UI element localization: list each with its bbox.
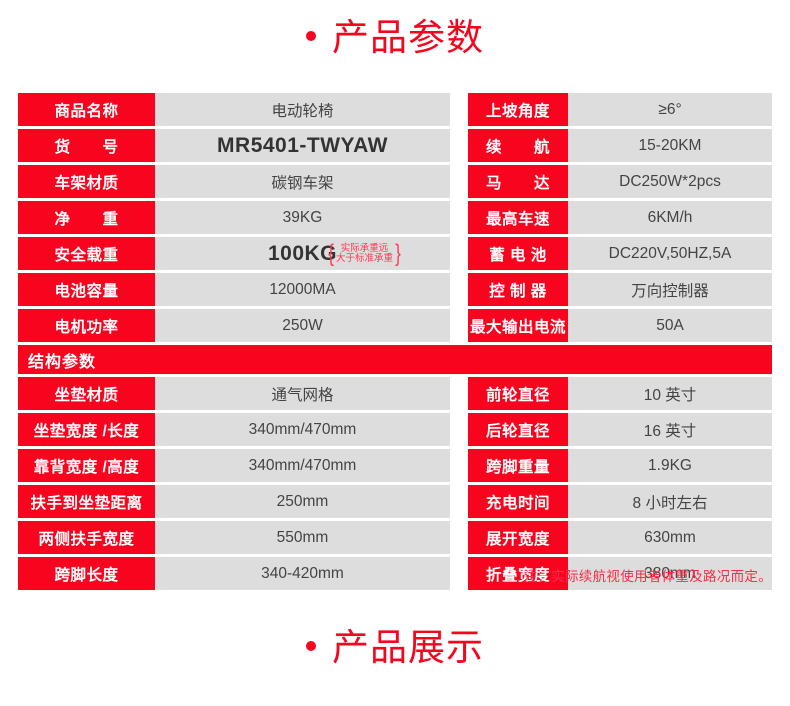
spec-value-cell: 碳钢车架: [155, 165, 450, 198]
spec-value-text: DC220V,50HZ,5A: [609, 245, 732, 263]
spec-label-cell: 跨脚重量: [468, 449, 568, 482]
spec-label-cell: 上坡角度: [468, 93, 568, 126]
table-row: 两侧扶手宽度550mm展开宽度630mm: [18, 521, 772, 554]
table-row: 净 重39KG最高车速6KM/h: [18, 201, 772, 234]
spec-value-cell: 630mm: [568, 521, 772, 554]
spec-label-cell: 靠背宽度 /高度: [18, 449, 155, 482]
column-gap: [450, 129, 468, 162]
spec-label-cell: 最大输出电流: [468, 309, 568, 342]
table-row: 安全载重100KG{实际承重远大于标准承重}蓄 电 池DC220V,50HZ,5…: [18, 237, 772, 270]
table-row: 电机功率250W最大输出电流50A: [18, 309, 772, 342]
spec-table: 商品名称电动轮椅上坡角度≥6°货 号MR5401-TWYAW续 航15-20KM…: [18, 93, 772, 593]
spec-value-cell: 340mm/470mm: [155, 413, 450, 446]
spec-value-cell: 15-20KM: [568, 129, 772, 162]
spec-value-cell: 39KG: [155, 201, 450, 234]
column-gap: [450, 377, 468, 410]
table-row: 靠背宽度 /高度340mm/470mm跨脚重量1.9KG: [18, 449, 772, 482]
spec-value-cell: 10 英寸: [568, 377, 772, 410]
annotation-lines: 实际承重远大于标准承重: [336, 244, 393, 264]
spec-value-cell: 1.9KG: [568, 449, 772, 482]
table-row: 商品名称电动轮椅上坡角度≥6°: [18, 93, 772, 126]
column-gap: [450, 273, 468, 306]
spec-value-text: 8 小时左右: [633, 491, 708, 513]
spec-value-cell: 万向控制器: [568, 273, 772, 306]
spec-label-cell: 充电时间: [468, 485, 568, 518]
spec-value-text: 电动轮椅: [271, 99, 333, 121]
bullet-icon: [306, 31, 316, 41]
column-gap: [450, 449, 468, 482]
table-row: 坐垫宽度 /长度340mm/470mm后轮直径16 英寸: [18, 413, 772, 446]
brace-left: {: [328, 242, 334, 266]
spec-value-text: DC250W*2pcs: [619, 173, 721, 191]
spec-value-text: 630mm: [644, 529, 696, 547]
spec-value-cell: DC220V,50HZ,5A: [568, 237, 772, 270]
spec-value-text: 340-420mm: [261, 565, 344, 583]
brace-right: }: [395, 242, 401, 266]
spec-value-cell: 通气网格: [155, 377, 450, 410]
spec-label-cell: 续 航: [468, 129, 568, 162]
load-capacity-annotation: {实际承重远大于标准承重}: [327, 242, 402, 266]
column-gap: [450, 485, 468, 518]
spec-value-text: 250W: [282, 317, 323, 335]
column-gap: [450, 201, 468, 234]
spec-value-text: 6KM/h: [648, 209, 693, 227]
spec-value-text: ≥6°: [658, 101, 681, 119]
spec-value-text: 15-20KM: [639, 137, 702, 155]
spec-label-cell: 马 达: [468, 165, 568, 198]
spec-value-cell: 8 小时左右: [568, 485, 772, 518]
section-title-text: 产品展示: [332, 627, 484, 668]
spec-value-cell: 12000MA: [155, 273, 450, 306]
table-row: 货 号MR5401-TWYAW续 航15-20KM: [18, 129, 772, 162]
spec-label-cell: 电机功率: [18, 309, 155, 342]
spec-value-text: 16 英寸: [644, 419, 697, 441]
annotation-line-2: 大于标准承重: [336, 254, 393, 264]
column-gap: [450, 413, 468, 446]
spec-value-cell: ≥6°: [568, 93, 772, 126]
bullet-icon: [306, 641, 316, 651]
spec-value-cell: 550mm: [155, 521, 450, 554]
spec-value-text: 万向控制器: [631, 279, 709, 301]
spec-value-text: 39KG: [283, 209, 323, 227]
column-gap: [450, 237, 468, 270]
column-gap: [450, 521, 468, 554]
spec-label-cell: 控 制 器: [468, 273, 568, 306]
spec-value-text: 通气网格: [271, 383, 333, 405]
spec-label-cell: 蓄 电 池: [468, 237, 568, 270]
spec-value-cell: 50A: [568, 309, 772, 342]
spec-value-text: 碳钢车架: [271, 171, 333, 193]
spec-label-cell: 商品名称: [18, 93, 155, 126]
value-with-annotation: 100KG{实际承重远大于标准承重}: [155, 242, 450, 266]
spec-label-cell: 货 号: [18, 129, 155, 162]
spec-value-text: 340mm/470mm: [249, 457, 357, 475]
spec-label-cell: 跨脚长度: [18, 557, 155, 590]
spec-value-cell: 250mm: [155, 485, 450, 518]
page-title-product-parameters: 产品参数: [0, 19, 790, 56]
spec-value-cell: 16 英寸: [568, 413, 772, 446]
column-gap: [450, 309, 468, 342]
spec-value-text: 550mm: [277, 529, 329, 547]
spec-value-cell: 100KG{实际承重远大于标准承重}: [155, 237, 450, 270]
spec-label-cell: 展开宽度: [468, 521, 568, 554]
table-row: 坐垫材质通气网格前轮直径10 英寸: [18, 377, 772, 410]
spec-label-cell: 安全载重: [18, 237, 155, 270]
spec-value-cell: 340-420mm: [155, 557, 450, 590]
table-row: 扶手到坐垫距离250mm充电时间8 小时左右: [18, 485, 772, 518]
spec-label-cell: 前轮直径: [468, 377, 568, 410]
spec-label-cell: 扶手到坐垫距离: [18, 485, 155, 518]
spec-value-text: 12000MA: [269, 281, 335, 299]
spec-value-text: 50A: [656, 317, 684, 335]
page-title-text: 产品参数: [332, 17, 484, 58]
spec-value-text: 340mm/470mm: [249, 421, 357, 439]
spec-value-cell: 电动轮椅: [155, 93, 450, 126]
spec-value-text: 10 英寸: [644, 383, 697, 405]
column-gap: [450, 165, 468, 198]
spec-value-text: MR5401-TWYAW: [217, 134, 388, 158]
spec-value-text: 250mm: [277, 493, 329, 511]
spec-value-cell: MR5401-TWYAW: [155, 129, 450, 162]
section-title-product-display: 产品展示: [0, 629, 790, 666]
spec-label-cell: 坐垫材质: [18, 377, 155, 410]
spec-label-cell: 坐垫宽度 /长度: [18, 413, 155, 446]
spec-label-cell: 两侧扶手宽度: [18, 521, 155, 554]
table-row: 车架材质碳钢车架马 达DC250W*2pcs: [18, 165, 772, 198]
product-spec-page: 产品参数 商品名称电动轮椅上坡角度≥6°货 号MR5401-TWYAW续 航15…: [0, 0, 790, 706]
spec-value-cell: 340mm/470mm: [155, 449, 450, 482]
spec-label-cell: 车架材质: [18, 165, 155, 198]
table-row: 电池容量12000MA控 制 器万向控制器: [18, 273, 772, 306]
section-band-structure-parameters: 结构参数: [18, 345, 772, 374]
spec-value-cell: 250W: [155, 309, 450, 342]
spec-value-text: 1.9KG: [648, 457, 692, 475]
table-footnote: 注：实际续航视使用者体重及路况而定。: [524, 565, 772, 585]
spec-label-cell: 电池容量: [18, 273, 155, 306]
column-gap: [450, 93, 468, 126]
spec-label-cell: 后轮直径: [468, 413, 568, 446]
spec-value-cell: 6KM/h: [568, 201, 772, 234]
column-gap: [450, 557, 468, 590]
spec-label-cell: 净 重: [18, 201, 155, 234]
spec-label-cell: 最高车速: [468, 201, 568, 234]
spec-value-cell: DC250W*2pcs: [568, 165, 772, 198]
